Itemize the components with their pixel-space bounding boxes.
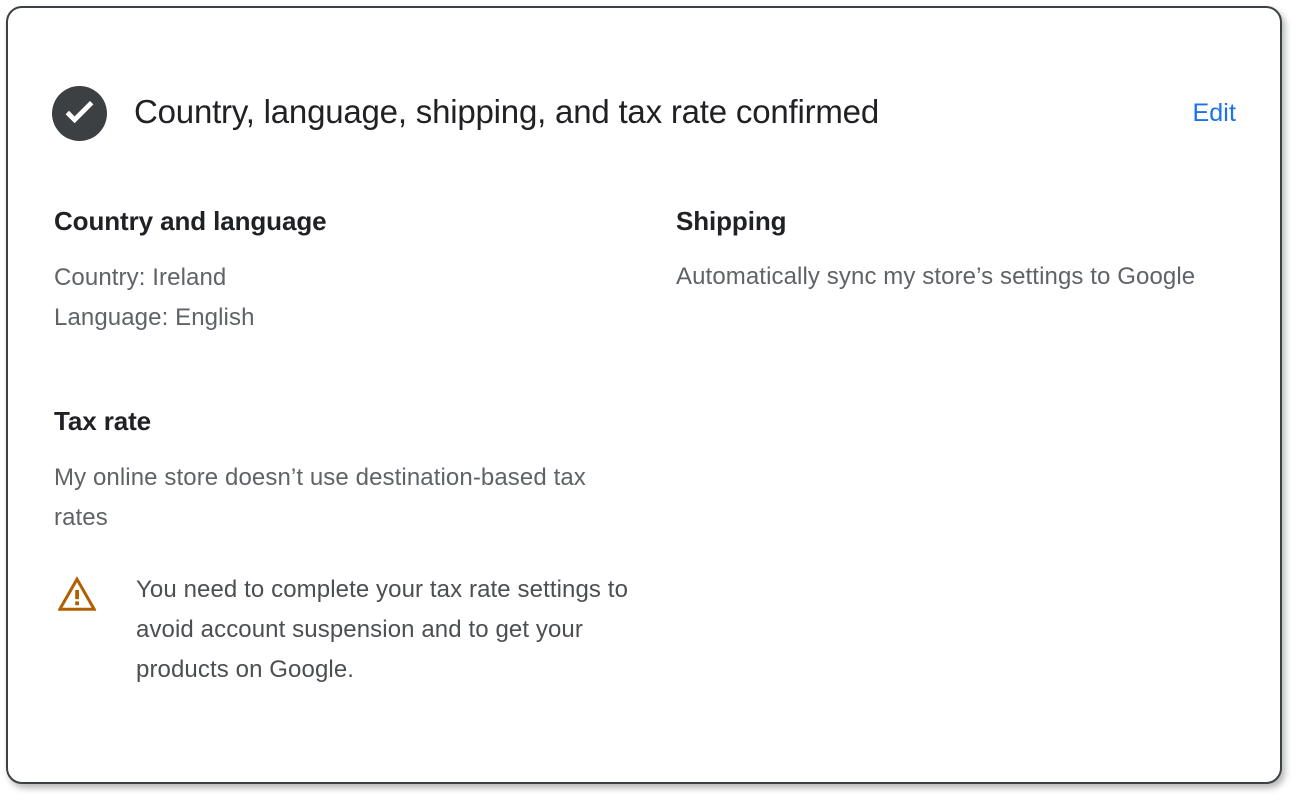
section-country-and-language: Country and language Country: Ireland La… (54, 204, 644, 338)
right-column: Shipping Automatically sync my store’s s… (676, 204, 1221, 297)
card-header: Country, language, shipping, and tax rat… (8, 8, 1280, 158)
warning-message: You need to complete your tax rate setti… (136, 570, 636, 690)
page-root: Country, language, shipping, and tax rat… (0, 0, 1296, 800)
edit-button[interactable]: Edit (1193, 96, 1236, 130)
section-body-shipping: Automatically sync my store’s settings t… (676, 256, 1216, 297)
section-body-tax-rate: My online store doesn’t use destination-… (54, 458, 609, 538)
section-title-country-and-language: Country and language (54, 204, 644, 238)
warning-triangle-icon (58, 575, 96, 613)
confirmation-card: Country, language, shipping, and tax rat… (6, 6, 1282, 784)
section-body-country-and-language: Country: Ireland Language: English (54, 258, 644, 338)
left-column: Country and language Country: Ireland La… (54, 204, 644, 690)
section-title-shipping: Shipping (676, 204, 1221, 238)
check-circle-filled-icon (52, 86, 107, 141)
section-shipping: Shipping Automatically sync my store’s s… (676, 204, 1221, 297)
page-title: Country, language, shipping, and tax rat… (134, 88, 1114, 136)
section-tax-rate: Tax rate My online store doesn’t use des… (54, 404, 644, 690)
tax-rate-warning: You need to complete your tax rate setti… (58, 570, 644, 690)
section-title-tax-rate: Tax rate (54, 404, 644, 438)
